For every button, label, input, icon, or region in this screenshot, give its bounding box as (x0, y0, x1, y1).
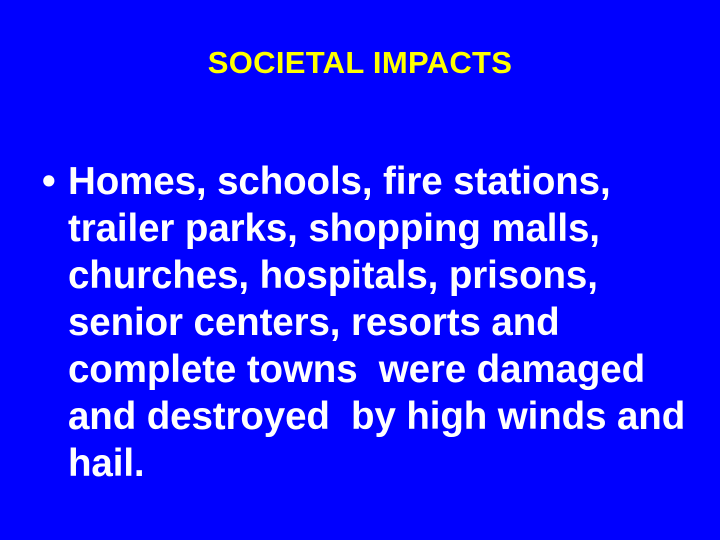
bullet-icon: • (42, 158, 64, 205)
list-item-label: Homes, schools, fire stations, trailer p… (68, 158, 688, 487)
presentation-slide: SOCIETAL IMPACTS • Homes, schools, fire … (0, 0, 720, 540)
page-title: SOCIETAL IMPACTS (0, 46, 720, 80)
list-item: • Homes, schools, fire stations, trailer… (38, 158, 688, 487)
slide-body: • Homes, schools, fire stations, trailer… (38, 158, 688, 487)
